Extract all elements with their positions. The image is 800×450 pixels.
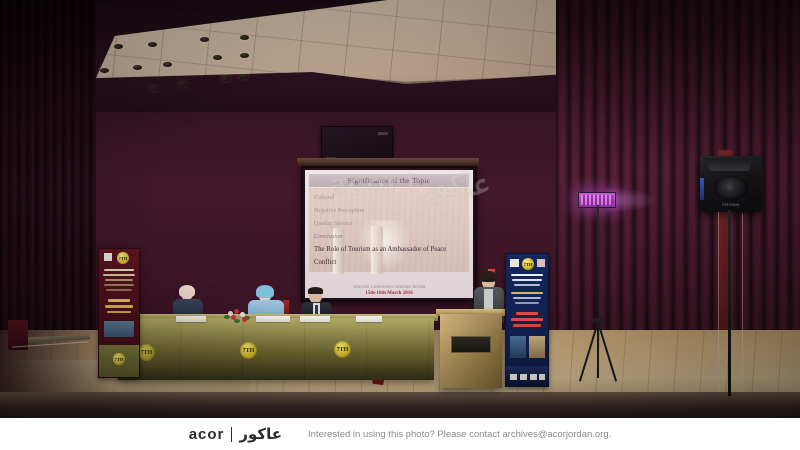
banner-footer-chip	[510, 374, 517, 380]
downlight	[148, 42, 157, 47]
credit-bar: acor عاكور Interested in using this phot…	[0, 418, 800, 450]
banner-headline	[105, 305, 133, 308]
banner-text-line	[103, 274, 135, 276]
downlight	[100, 68, 109, 73]
banner-footer-chip	[530, 374, 537, 380]
banner-left: 7TH 7TH	[98, 248, 140, 378]
slide-bullet: The Role of Tourism as an Ambassador of …	[314, 246, 467, 253]
banner-sponsor-chip	[537, 259, 545, 267]
downlight	[213, 55, 222, 60]
slide-bullet: Negative Perception	[314, 207, 467, 214]
panelist-headscarf	[256, 285, 274, 298]
stage-front-edge	[0, 392, 800, 418]
panelist-hair	[308, 287, 323, 294]
banner-photo	[529, 336, 545, 358]
slide-bullet-list: Cultural Negative Perception Quality Ser…	[314, 194, 467, 266]
banner-text-line	[511, 274, 543, 276]
projection-screen-headrail	[297, 158, 479, 166]
slide-title-band: Significance of the Topic	[309, 174, 469, 187]
flower-arrangement	[222, 306, 252, 324]
acor-logo-en: acor	[189, 426, 225, 443]
downlight	[163, 62, 172, 67]
pa-speaker-stand	[728, 210, 731, 396]
banner-right: 7TH	[505, 253, 549, 387]
banner-footer-logo: 7TH	[113, 353, 125, 365]
banner-headline	[513, 324, 541, 327]
banner-headline	[107, 311, 131, 313]
banner-text-line	[106, 289, 132, 291]
table-paper	[356, 316, 382, 322]
downlight	[133, 65, 142, 70]
pa-speaker-cable	[718, 212, 719, 392]
table-paper	[176, 316, 206, 322]
banner-sponsor-chip	[510, 259, 519, 267]
banner-footer-chip	[539, 374, 545, 380]
banner-text-line	[514, 284, 540, 286]
tripod-leg	[597, 322, 599, 378]
downlight	[200, 37, 209, 42]
banner-text-line	[104, 284, 134, 286]
table-paper	[256, 316, 290, 322]
projection-screen: Significance of the Topic Cultural Negat…	[301, 166, 477, 302]
banner-text-line	[512, 279, 542, 281]
acor-logo[interactable]: acor عاكور	[189, 425, 282, 443]
table-logo-right: 7TH	[334, 341, 351, 358]
pa-speaker-cable	[742, 214, 743, 386]
banner-photo	[510, 336, 526, 358]
banner-headline	[516, 312, 538, 315]
banner-logo: 7TH	[117, 252, 129, 264]
table-paper	[300, 316, 330, 322]
pa-speaker-woofer	[714, 176, 748, 200]
screenshot-root: Significance of the Topic Cultural Negat…	[0, 0, 800, 450]
downlight	[240, 35, 249, 40]
slide-bullet: Conflict	[314, 259, 467, 266]
banner-footer-chip	[520, 374, 527, 380]
speaker-blouse	[484, 289, 493, 309]
pa-speaker-side-tag	[700, 178, 704, 200]
slide-bullet: Conclusion	[314, 233, 467, 240]
banner-sponsor-chip	[104, 253, 112, 261]
banner-text-line	[513, 297, 541, 299]
panelist-headscarf	[179, 285, 195, 297]
downlight	[240, 53, 249, 58]
banner-headline	[511, 318, 543, 321]
photo-usage-notice: Interested in using this photo? Please c…	[308, 429, 611, 440]
acor-logo-divider	[231, 427, 232, 442]
banner-headline	[108, 299, 130, 302]
podium-plaque	[451, 336, 491, 353]
pa-speaker-brand-label: CROWN	[722, 202, 740, 207]
speaker-glasses	[483, 279, 494, 281]
tripod-pole	[597, 205, 599, 323]
slide-bullet: Quality Service	[314, 220, 467, 227]
acor-logo-ar: عاكور	[239, 425, 282, 443]
table-logo-far-right: 7TH	[138, 344, 155, 361]
conference-photograph: Significance of the Topic Cultural Negat…	[0, 0, 800, 418]
banner-logo: 7TH	[522, 258, 534, 270]
banner-text-line	[515, 302, 539, 304]
presentation-slide: Significance of the Topic Cultural Negat…	[305, 170, 473, 298]
panel-table	[118, 318, 434, 380]
downlight	[114, 44, 123, 49]
banner-text-line	[511, 292, 543, 294]
banner-text-line	[104, 269, 134, 271]
banner-text-line	[105, 279, 133, 281]
slide-title: Significance of the Topic	[348, 176, 431, 185]
banner-photo	[104, 321, 134, 337]
table-logo-left: 7TH	[240, 342, 257, 359]
slide-bullet: Cultural	[314, 194, 467, 201]
pa-speaker-horn	[704, 158, 754, 171]
